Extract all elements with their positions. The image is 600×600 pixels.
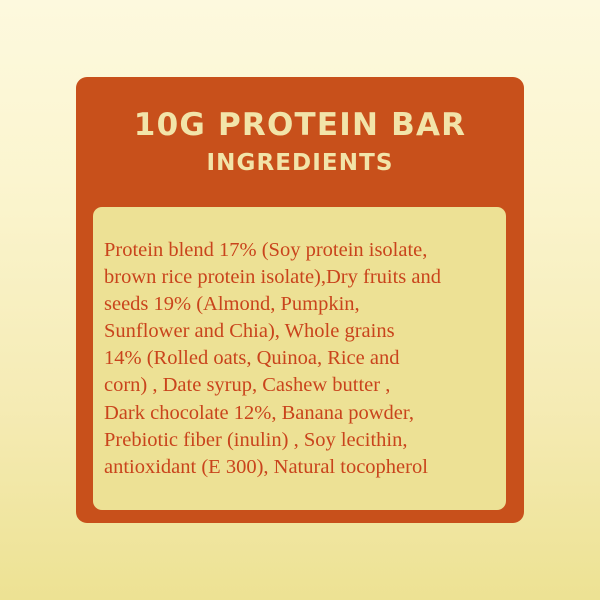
ingredients-heading: Ingredients	[206, 152, 393, 175]
ingredients-panel: Protein blend 17% (Soy protein isolate, …	[93, 207, 506, 510]
page-title: 10G Protein Bar	[134, 110, 466, 141]
product-label-card: 10G Protein Bar Ingredients Protein blen…	[76, 77, 524, 523]
ingredients-list-text: Protein blend 17% (Soy protein isolate, …	[104, 237, 496, 481]
